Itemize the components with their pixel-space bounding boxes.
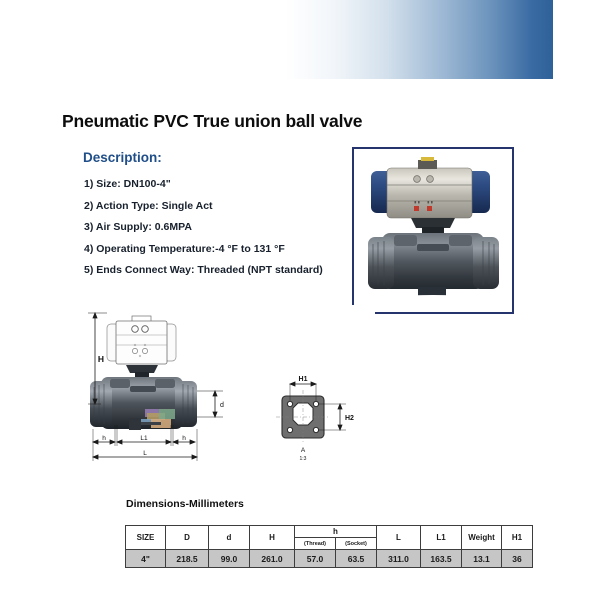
flange-label-H1: H1 — [299, 376, 308, 383]
description-item-action-type: 2) Action Type: Single Act — [84, 196, 354, 218]
page-title: Pneumatic PVC True union ball valve — [62, 111, 362, 132]
description-item-operating-temperature: 4) Operating Temperature:-4 °F to 131 °F — [84, 239, 354, 261]
cell-h1: 36 — [502, 550, 533, 568]
product-photo-image — [354, 149, 512, 312]
flange-label-scale: 1:3 — [300, 456, 307, 462]
drawing-label-h-right: h — [182, 435, 186, 442]
product-photo-frame — [352, 147, 514, 314]
th-h1: H1 — [502, 526, 533, 550]
product-spec-page: Pneumatic PVC True union ball valve Desc… — [0, 0, 600, 600]
table-header: SIZE D d H h L L1 Weight H1 (Thread) (So… — [126, 526, 533, 550]
th-l1: L1 — [421, 526, 462, 550]
dimensions-caption: Dimensions-Millimeters — [126, 498, 244, 510]
table-body: 4" 218.5 99.0 261.0 57.0 63.5 311.0 163.… — [126, 550, 533, 568]
description-item-air-supply: 3) Air Supply: 0.6MPA — [84, 217, 354, 239]
flange-label-H2: H2 — [345, 415, 354, 422]
dimensions-table: SIZE D d H h L L1 Weight H1 (Thread) (So… — [125, 525, 533, 568]
dimensions-table-wrap: SIZE D d H h L L1 Weight H1 (Thread) (So… — [125, 525, 533, 568]
th-l: L — [377, 526, 421, 550]
th-weight: Weight — [462, 526, 502, 550]
flange-label-view: A — [301, 447, 306, 454]
th-h-thread: (Thread) — [295, 538, 336, 550]
cell-h-socket: 63.5 — [336, 550, 377, 568]
cell-l1: 163.5 — [421, 550, 462, 568]
cell-weight: 13.1 — [462, 550, 502, 568]
th-size: SIZE — [126, 526, 166, 550]
table-header-row-1: SIZE D d H h L L1 Weight H1 — [126, 526, 533, 538]
th-h-group: h — [295, 526, 377, 538]
th-h-big: H — [250, 526, 295, 550]
drawing-label-h-left: h — [102, 435, 106, 442]
table-row: 4" 218.5 99.0 261.0 57.0 63.5 311.0 163.… — [126, 550, 533, 568]
th-h-socket: (Socket) — [336, 538, 377, 550]
header-gradient-bar — [285, 0, 553, 79]
cell-h-big: 261.0 — [250, 550, 295, 568]
drawing-label-H: H — [98, 354, 104, 364]
cell-h-thread: 57.0 — [295, 550, 336, 568]
description-item-size: 1) Size: DN100-4" — [84, 174, 354, 196]
cell-size: 4" — [126, 550, 166, 568]
drawing-label-L1: L1 — [140, 435, 148, 442]
th-d: D — [166, 526, 209, 550]
description-list: 1) Size: DN100-4" 2) Action Type: Single… — [84, 174, 354, 282]
cell-d: 218.5 — [166, 550, 209, 568]
cell-d-small: 99.0 — [209, 550, 250, 568]
th-d-small: d — [209, 526, 250, 550]
drawing-label-d: d — [220, 402, 224, 409]
description-heading: Description: — [83, 150, 162, 165]
drawing-label-L: L — [143, 450, 147, 457]
flange-detail-drawing: H1 H2 A 1:3 — [272, 370, 364, 470]
description-item-ends-connect-way: 5) Ends Connect Way: Threaded (NPT stand… — [84, 260, 354, 282]
cell-l: 311.0 — [377, 550, 421, 568]
